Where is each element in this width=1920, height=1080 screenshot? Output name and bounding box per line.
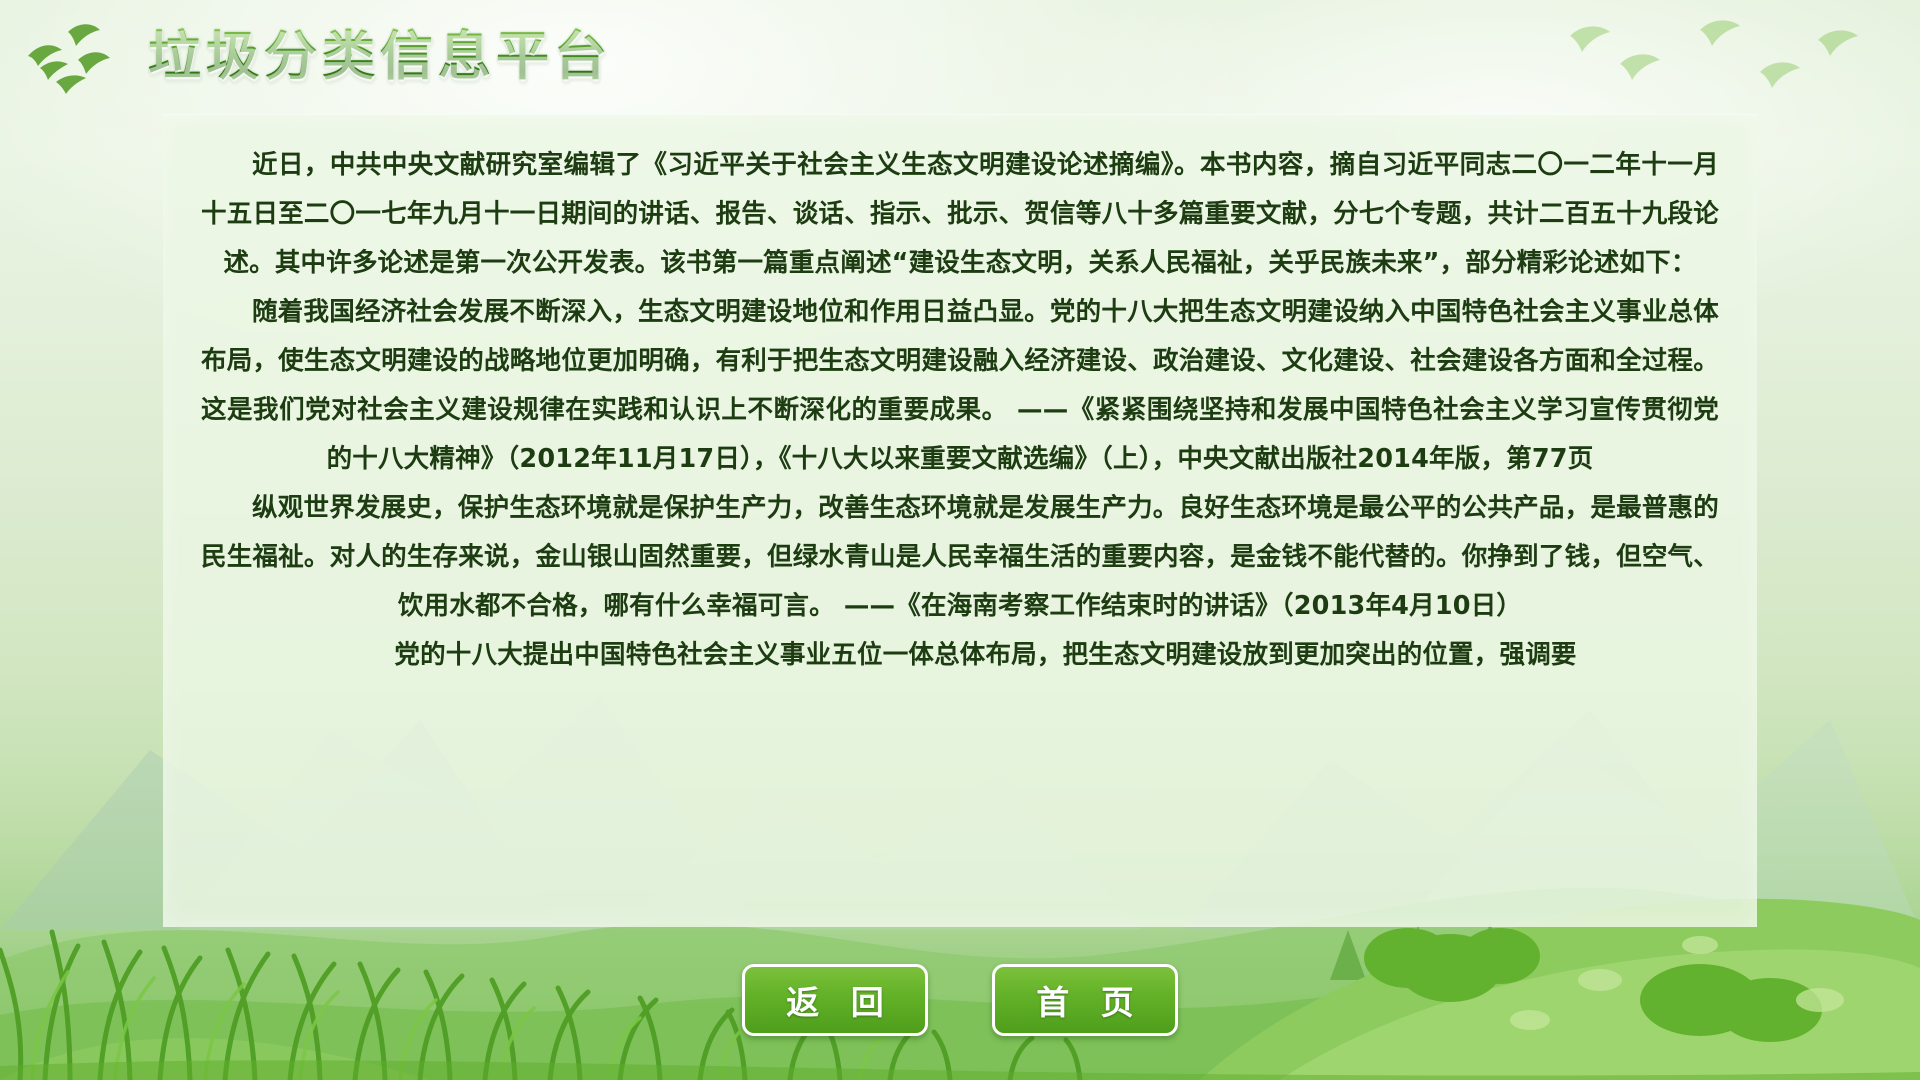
navigation-button-bar: 返 回 首 页	[0, 964, 1920, 1036]
back-button[interactable]: 返 回	[742, 964, 928, 1036]
article-paragraph: 近日，中共中央文献研究室编辑了《习近平关于社会主义生态文明建设论述摘编》。本书内…	[201, 141, 1719, 288]
article-paragraph: 党的十八大提出中国特色社会主义事业五位一体总体布局，把生态文明建设放到更加突出的…	[201, 631, 1719, 680]
home-button[interactable]: 首 页	[992, 964, 1178, 1036]
birds-flying-icon	[22, 8, 152, 108]
page-title: 垃圾分类信息平台	[148, 14, 612, 90]
content-panel: 近日，中共中央文献研究室编辑了《习近平关于社会主义生态文明建设论述摘编》。本书内…	[163, 114, 1757, 927]
birds-flying-icon	[1560, 10, 1890, 120]
page-root: 垃圾分类信息平台 近日，中共中央文献研究室编辑了《习近平关于社会主义生态文明建设…	[0, 0, 1920, 1080]
article-body: 近日，中共中央文献研究室编辑了《习近平关于社会主义生态文明建设论述摘编》。本书内…	[201, 141, 1719, 680]
article-paragraph: 随着我国经济社会发展不断深入，生态文明建设地位和作用日益凸显。党的十八大把生态文…	[201, 288, 1719, 484]
article-paragraph: 纵观世界发展史，保护生态环境就是保护生产力，改善生态环境就是发展生产力。良好生态…	[201, 484, 1719, 631]
page-header: 垃圾分类信息平台	[0, 0, 1920, 112]
